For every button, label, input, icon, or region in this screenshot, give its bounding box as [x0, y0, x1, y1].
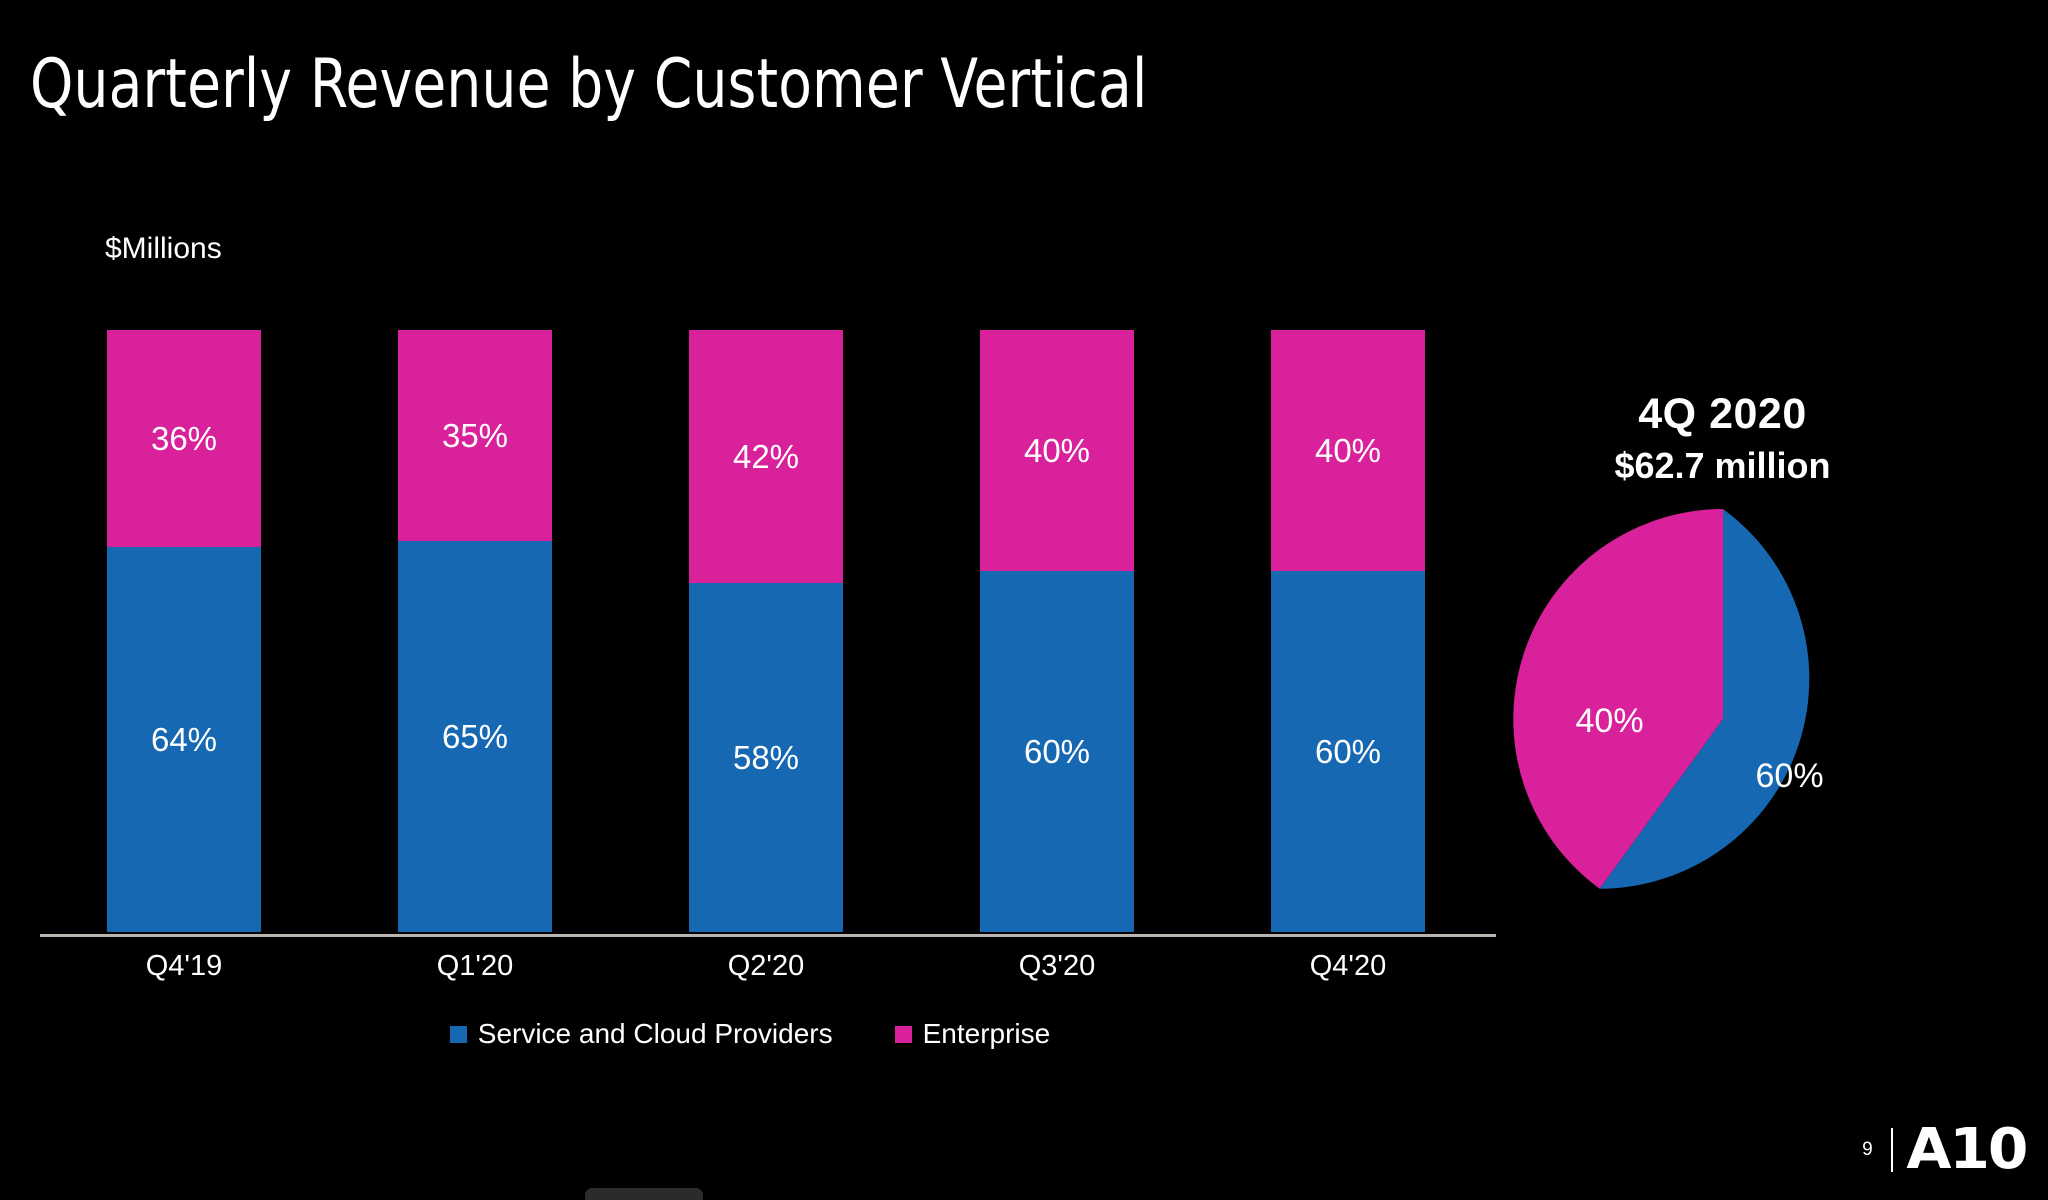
bar-segment-service-cloud[interactable]: 65% [398, 541, 552, 932]
legend-item-label: Service and Cloud Providers [478, 1018, 833, 1050]
pie-panel-subtitle: $62.7 million [1495, 445, 1950, 487]
bar-segment-label: 35% [442, 419, 508, 452]
bar-segment-enterprise[interactable]: 35% [398, 330, 552, 541]
bar-segment-enterprise[interactable]: 40% [980, 330, 1134, 571]
slide-footer: 9 A10 [1862, 1117, 2026, 1182]
stacked-bar-chart: 36% 64% 35% 65% 42% 58% [0, 0, 1200, 1060]
bar-segment-label: 58% [733, 741, 799, 774]
x-axis-tick-label: Q3'20 [957, 950, 1157, 983]
bar-segment-service-cloud[interactable]: 60% [1271, 571, 1425, 932]
bar-segment-service-cloud[interactable]: 60% [980, 571, 1134, 932]
pie-chart: 40% 60% [1513, 509, 1933, 929]
bar-segment-label: 60% [1024, 735, 1090, 768]
footer-divider [1891, 1128, 1893, 1172]
media-control-bar[interactable] [585, 1188, 703, 1200]
bar-segment-label: 60% [1315, 735, 1381, 768]
bar-segment-label: 42% [733, 440, 799, 473]
pie-slice-label-service-cloud: 60% [1756, 757, 1824, 796]
legend-item-enterprise[interactable]: Enterprise [895, 1018, 1051, 1050]
bar-column[interactable]: 40% 60% [1271, 330, 1425, 932]
a10-logo: A10 [1906, 1117, 2026, 1182]
legend-swatch-icon [895, 1026, 912, 1043]
bar-segment-label: 65% [442, 720, 508, 753]
pie-panel-title: 4Q 2020 [1495, 390, 1950, 439]
bar-segment-label: 40% [1024, 434, 1090, 467]
bar-segment-service-cloud[interactable]: 58% [689, 583, 843, 932]
x-axis-tick-label: Q1'20 [375, 950, 575, 983]
legend-item-label: Enterprise [923, 1018, 1051, 1050]
bar-column[interactable]: 35% 65% [398, 330, 552, 932]
x-axis-tick-label: Q4'19 [84, 950, 284, 983]
chart-legend: Service and Cloud Providers Enterprise [0, 1018, 1500, 1050]
bar-segment-enterprise[interactable]: 42% [689, 330, 843, 583]
legend-item-service-cloud[interactable]: Service and Cloud Providers [450, 1018, 833, 1050]
x-axis-line [40, 934, 1496, 937]
bar-column[interactable]: 42% 58% [689, 330, 843, 932]
legend-swatch-icon [450, 1026, 467, 1043]
slide-canvas: Quarterly Revenue by Customer Vertical $… [0, 0, 2048, 1200]
bar-segment-label: 64% [151, 723, 217, 756]
x-axis-tick-label: Q4'20 [1248, 950, 1448, 983]
bar-segment-label: 36% [151, 422, 217, 455]
pie-panel: 4Q 2020 $62.7 million 40% 60% [1495, 390, 1950, 929]
bar-column[interactable]: 40% 60% [980, 330, 1134, 932]
bar-segment-enterprise[interactable]: 36% [107, 330, 261, 547]
page-number: 9 [1862, 1139, 1873, 1161]
bar-segment-label: 40% [1315, 434, 1381, 467]
pie-slice-label-enterprise: 40% [1576, 702, 1644, 741]
bar-column[interactable]: 36% 64% [107, 330, 261, 932]
bar-segment-enterprise[interactable]: 40% [1271, 330, 1425, 571]
bar-segment-service-cloud[interactable]: 64% [107, 547, 261, 932]
x-axis-tick-label: Q2'20 [666, 950, 866, 983]
